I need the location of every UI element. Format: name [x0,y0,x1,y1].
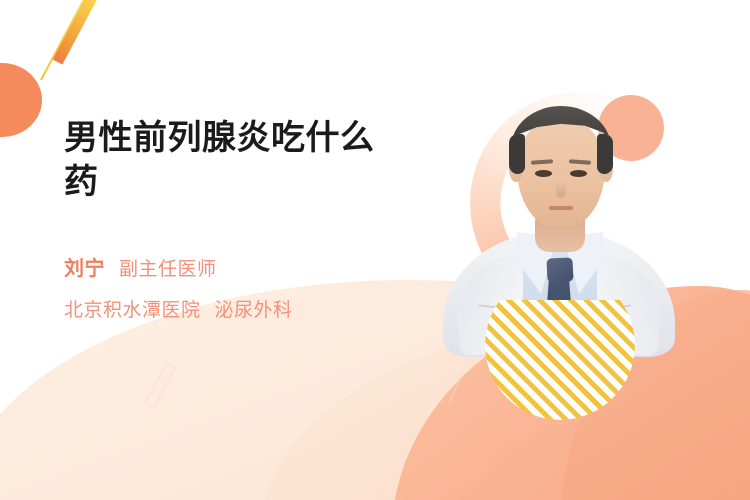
hair-side-right [597,134,613,174]
doctor-name: 刘宁 [64,252,105,281]
eye-right [570,170,587,177]
eye-left [535,170,552,177]
diagonal-thin-stripe-icon [40,0,92,80]
avatar [435,80,685,370]
hairline-slanted-bar-icon [449,373,463,405]
face [517,116,605,228]
hair-side-left [509,134,525,174]
text-content: 男性前列腺炎吃什么药 刘宁 副主任医师 北京积水潭医院 泌尿外科 [64,116,424,322]
hospital-name: 北京积水潭医院 [64,295,201,322]
mouth [549,206,573,210]
diagonal-gradient-stripe-icon [53,0,108,65]
doctor-info-card: 男性前列腺炎吃什么药 刘宁 副主任医师 北京积水潭医院 泌尿外科 [0,0,750,500]
doctor-identity: 刘宁 副主任医师 [64,252,424,281]
doctor-professional-title: 副主任医师 [119,254,217,281]
outlined-slanted-bar-icon [145,362,176,408]
page-title: 男性前列腺炎吃什么药 [64,116,394,204]
department-name: 泌尿外科 [215,295,293,322]
nose [556,180,566,198]
orange-circle-icon [0,63,42,137]
doctor-affiliation: 北京积水潭医院 泌尿外科 [64,295,424,322]
necktie-knot [546,257,573,282]
